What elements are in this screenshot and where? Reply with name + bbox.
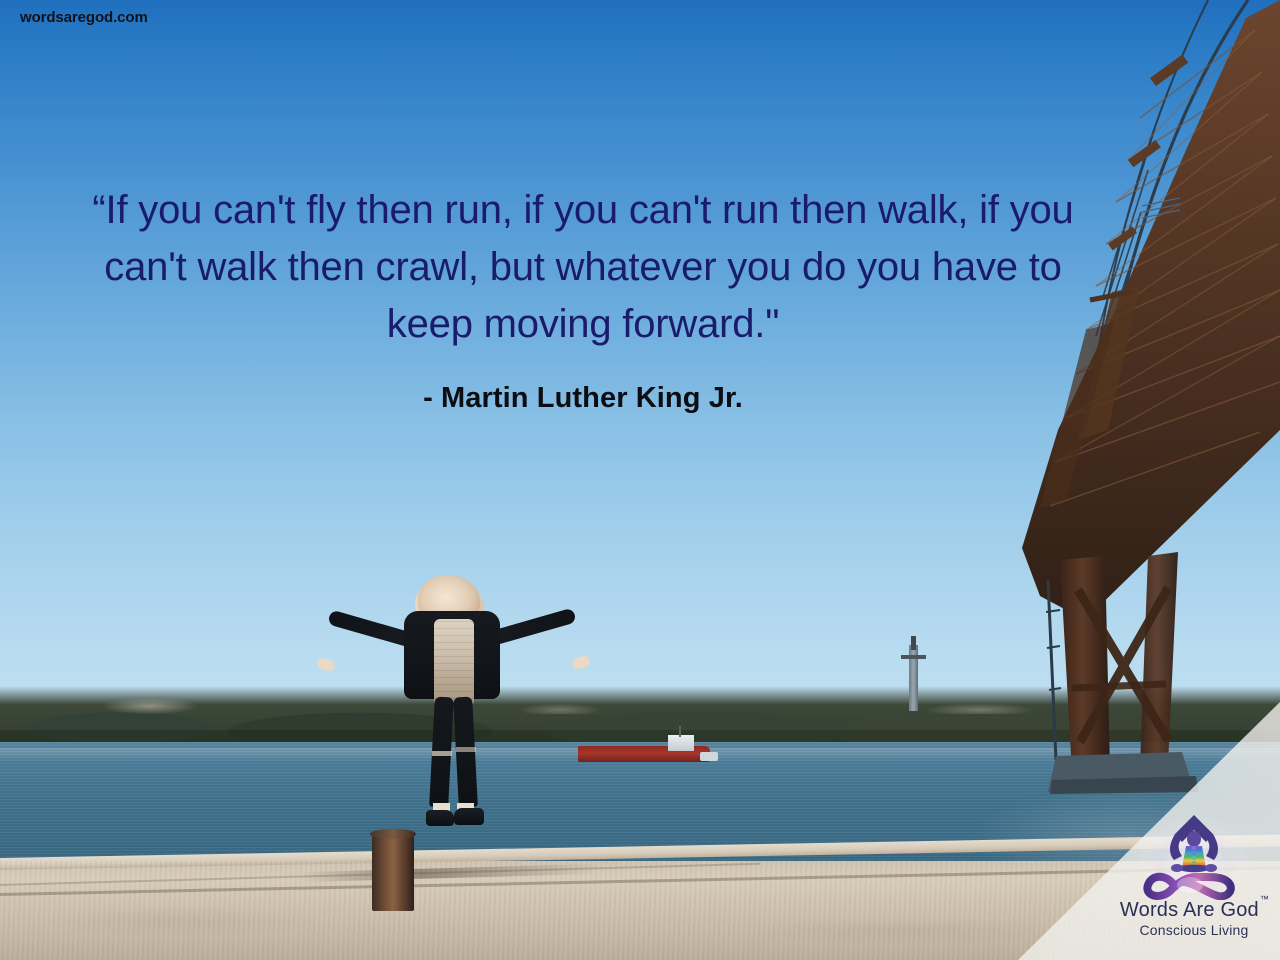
mooring-bollard	[372, 833, 414, 911]
brand-logo[interactable]: Words Are God™ Conscious Living	[1118, 812, 1270, 948]
site-watermark: wordsaregod.com	[20, 9, 148, 26]
person-jeans-rip-right	[456, 747, 476, 752]
meditating-figure-infinity-icon	[1118, 812, 1270, 900]
person-left-arm	[327, 610, 414, 648]
person-left-hand	[316, 657, 336, 673]
person-left-shoe	[426, 810, 454, 826]
quote-image-canvas: wordsaregod.com “If you can't fly then r…	[0, 0, 1280, 960]
small-boat	[700, 752, 718, 761]
brand-tagline: Conscious Living	[1118, 923, 1270, 937]
person-right-leg	[453, 697, 478, 808]
person-right-shoe	[454, 808, 484, 825]
person-jeans-rip-left	[432, 751, 452, 756]
sky-background	[0, 0, 1280, 730]
quote-text: “If you can't fly then run, if you can't…	[58, 182, 1108, 353]
cargo-ship-superstructure	[668, 735, 694, 751]
person-vest-quilting	[434, 621, 474, 703]
distant-hills	[0, 686, 1280, 748]
brand-title-label: Words Are God	[1120, 899, 1259, 921]
cargo-ship-mast	[679, 726, 681, 737]
quote-author: - Martin Luther King Jr.	[58, 382, 1108, 415]
person-balancing	[300, 575, 530, 840]
brand-logo-text: Words Are God™ Conscious Living	[1118, 900, 1270, 937]
trademark-symbol: ™	[1260, 894, 1269, 904]
brand-title: Words Are God™	[1120, 900, 1268, 920]
cristo-rei-monument	[909, 645, 918, 711]
